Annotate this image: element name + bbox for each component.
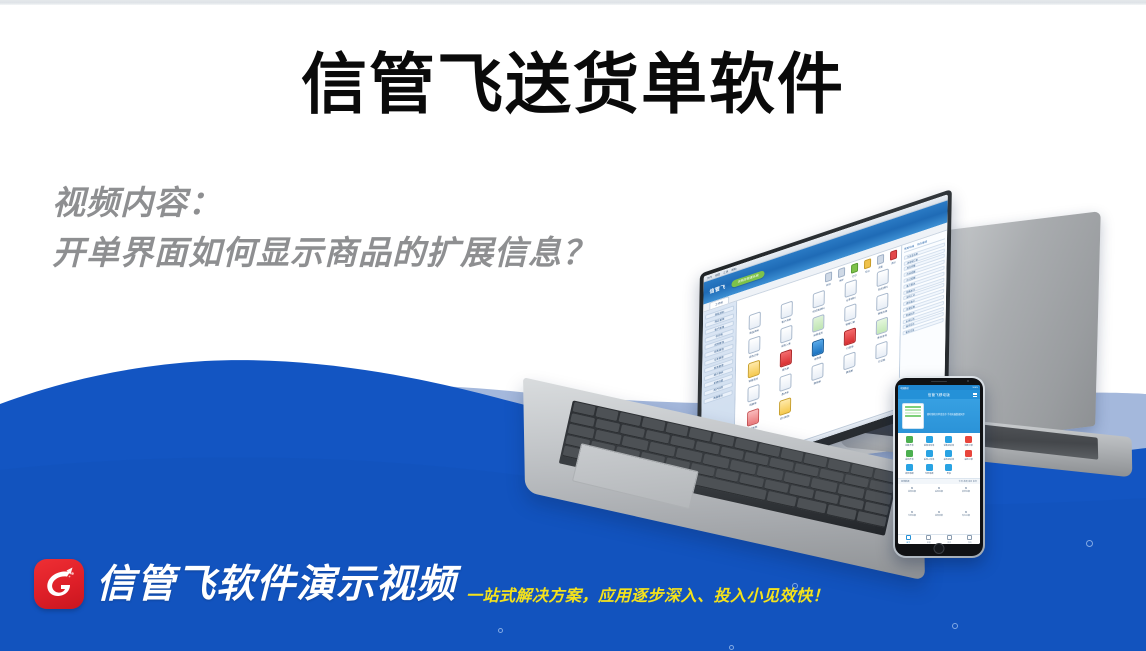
right-panel-tab[interactable]: 待办事项 (917, 239, 927, 246)
app-grid-icon-18 (844, 351, 856, 370)
toolbar-button-3[interactable]: 导出 (863, 258, 872, 275)
phone-stat-label-5: 库存总额 (962, 515, 970, 517)
device-illustration-icon (902, 403, 924, 429)
phone-stat-4: 0销售单数 (926, 511, 952, 532)
toolbar-icon-2 (851, 262, 858, 273)
phone-banner-text: 随时随地开单查库存 手机电脑数据同步 (927, 414, 965, 417)
phone-stat-value-3: 0 (899, 511, 925, 514)
phone-module-label-6: 采购退货单 (944, 459, 954, 461)
subtitle-line-2: 开单界面如何显示商品的扩展信息？ (52, 228, 596, 278)
phone-module-icon-8 (906, 464, 913, 471)
app-grid-icon-15 (747, 384, 759, 403)
app-grid-label-21: 应付账款 (780, 415, 790, 421)
toolbar-icon-4 (877, 254, 884, 265)
app-grid-icon-17 (811, 362, 823, 381)
app-grid-icon-21 (779, 397, 791, 416)
phone-module-icon-10 (945, 464, 952, 471)
app-grid-icon-2 (813, 290, 825, 309)
phone-module-label-0: 销售开单 (905, 445, 913, 447)
phone-stat-value-5: 0 (953, 511, 979, 514)
phone-module-label-8: 收款单据 (905, 473, 913, 475)
phone-nav-label-2: 报表 (947, 542, 951, 544)
device-photo-group: 文件 视图 工具 帮助 信管飞 进销存管理系统 工作台 (510, 226, 1146, 571)
phone-module-label-3: 销售订单 (964, 445, 972, 447)
app-grid-icon-6 (780, 325, 792, 344)
phone-filter-3[interactable]: 本年 (973, 481, 977, 483)
top-edge-strip (0, 0, 1146, 5)
app-grid-icon-19 (876, 340, 888, 359)
footer-brand-text: 信管飞软件演示视频 (96, 565, 456, 604)
toolbar-icon-1 (838, 267, 845, 278)
app-grid-icon-9 (877, 292, 889, 311)
app-grid-label-17: 报损单 (814, 380, 821, 385)
footer-tagline: 一站式解决方案，应用逐步深入、投入小见效快！ (466, 582, 829, 609)
phone-hero-banner: 随时随地开单查库存 手机电脑数据同步 (898, 399, 980, 433)
app-grid-label-16: 盘点单 (781, 391, 788, 396)
smartphone-speaker (931, 381, 947, 383)
toolbar-button-4[interactable]: 设置 (876, 253, 885, 270)
phone-module-5[interactable]: 采购入库单 (920, 450, 939, 461)
phone-module-label-4: 采购开单 (905, 459, 913, 461)
phone-stat-value-4: 0 (926, 511, 952, 514)
app-grid-icon-8 (844, 303, 856, 322)
phone-module-icon-7 (965, 450, 972, 457)
phone-filter-2[interactable]: 本月 (968, 481, 972, 483)
decorative-bubble (729, 645, 734, 650)
toolbar-button-1[interactable]: 保存 (837, 267, 846, 284)
phone-stats-grid: 0销售金额 0采购金额 0收款金额 0付款金额 0销售单数 0库存总额 (898, 484, 980, 534)
app-grid-label-8: 销售订单 (845, 321, 855, 327)
phone-nav-label-0: 首页 (906, 542, 910, 544)
phone-stat-0: 0销售金额 (899, 487, 925, 508)
phone-stat-5: 0库存总额 (953, 511, 979, 532)
toolbar-button-5[interactable]: 退出 (889, 249, 898, 266)
phone-stat-value-1: 0 (926, 487, 952, 490)
toolbar-icon-5 (890, 249, 897, 260)
phone-stat-label-0: 销售金额 (908, 491, 916, 493)
phone-nav-label-3: 我的 (968, 542, 972, 544)
decorative-bubble (1086, 540, 1093, 547)
smartphone-body: 中国移动 100% 信管飞移动版 随时随地开单查库存 手机电脑数据同步 销售开单… (895, 378, 983, 556)
phone-nav-home[interactable]: 首页 (898, 535, 919, 544)
smartphone-screen: 中国移动 100% 信管飞移动版 随时随地开单查库存 手机电脑数据同步 销售开单… (898, 385, 980, 544)
toolbar-button-2[interactable]: 打印 (850, 262, 859, 279)
hamburger-menu-icon[interactable] (973, 393, 977, 396)
phone-module-label-7: 采购订单 (964, 459, 972, 461)
app-grid-icon-7 (812, 314, 824, 333)
phone-module-10[interactable]: 更多 (940, 464, 959, 475)
phone-module-9[interactable]: 付款单据 (920, 464, 939, 475)
app-grid-icon-4 (877, 268, 889, 287)
app-grid-item-17[interactable]: 报损单 (803, 359, 833, 389)
phone-module-3[interactable]: 销售订单 (959, 436, 978, 447)
app-grid-item-18[interactable]: 费用单 (835, 348, 865, 378)
phone-module-icon-4 (906, 450, 913, 457)
phone-module-label-10: 更多 (947, 473, 951, 475)
phone-module-label-9: 付款单据 (925, 473, 933, 475)
phone-stat-value-2: 0 (953, 487, 979, 490)
phone-stat-2: 0收款金额 (953, 487, 979, 508)
smartphone-camera (967, 380, 969, 382)
phone-module-8[interactable]: 收款单据 (900, 464, 919, 475)
app-grid-icon-3 (845, 279, 857, 298)
phone-module-icon-3 (965, 436, 972, 443)
phone-module-icon-5 (926, 450, 933, 457)
phone-stat-1: 0采购金额 (926, 487, 952, 508)
toolbar-button-0[interactable]: 新增 (824, 271, 833, 288)
app-grid-label-11: 送货单 (782, 367, 789, 372)
phone-stat-3: 0付款金额 (899, 511, 925, 532)
phone-stat-label-1: 采购金额 (935, 491, 943, 493)
phone-module-4[interactable]: 采购开单 (900, 450, 919, 461)
app-grid-label-18: 费用单 (846, 369, 853, 374)
subtitle-line-1: 视频内容： (52, 178, 596, 228)
app-grid-icon-0 (748, 311, 760, 330)
phone-app-header: 信管飞移动版 (898, 390, 980, 399)
phone-module-icon-6 (945, 450, 952, 457)
app-grid-icon-16 (779, 373, 791, 392)
phone-module-label-2: 销售退货单 (944, 445, 954, 447)
app-grid-label-7: 采购退货 (813, 331, 823, 337)
app-grid-label-4: 职员资料 (878, 286, 888, 292)
toolbar-icon-3 (864, 258, 871, 269)
right-panel-title[interactable]: 常用功能 (904, 244, 914, 251)
app-grid-icon-5 (748, 336, 760, 355)
app-grid-label-13: 付款单 (846, 345, 853, 350)
app-grid-icon-13 (844, 327, 856, 346)
phone-stat-label-4: 销售单数 (935, 515, 943, 517)
app-grid-icon-10 (747, 360, 759, 379)
app-grid-item-19[interactable]: 日记账 (867, 338, 897, 368)
phone-module-6[interactable]: 采购退货单 (940, 450, 959, 461)
app-grid-icon-14 (876, 316, 888, 335)
app-grid-icon-11 (780, 349, 792, 368)
phone-nav-reports[interactable]: 报表 (939, 535, 960, 544)
app-grid-label-15: 调拨单 (749, 402, 756, 407)
phone-battery: 100% (972, 387, 978, 389)
phone-module-7[interactable]: 采购订单 (959, 450, 978, 461)
app-grid-item-21[interactable]: 应付账款 (770, 394, 800, 424)
phone-module-label-1: 销售出库单 (924, 445, 934, 447)
slide-headline: 信管飞送货单软件 (0, 52, 1146, 118)
user-icon (967, 535, 972, 540)
phone-nav-label-1: 单据 (927, 542, 931, 544)
phone-stat-label-3: 付款金额 (908, 515, 916, 517)
app-grid-label-5: 采购订单 (749, 353, 759, 359)
phone-section-filters: 今日 本周 本月 本年 (959, 480, 977, 483)
phone-module-2[interactable]: 销售退货单 (940, 436, 959, 447)
phone-section-title: 经营数据 (901, 480, 909, 483)
app-grid-label-14: 库存查询 (877, 334, 887, 340)
phone-module-icon-0 (906, 436, 913, 443)
app-grid-label-1: 客户资料 (782, 318, 792, 324)
phone-module-0[interactable]: 销售开单 (900, 436, 919, 447)
app-grid-label-19: 日记账 (878, 358, 885, 363)
toolbar-icon-0 (825, 271, 832, 282)
slide-subtitle: 视频内容： 开单界面如何显示商品的扩展信息？ (52, 178, 596, 278)
app-grid-icon-1 (780, 301, 792, 320)
chart-icon (947, 535, 952, 540)
decorative-bubble (498, 628, 503, 633)
phone-filter-1[interactable]: 本周 (963, 481, 967, 483)
phone-app-title: 信管飞移动版 (928, 392, 950, 397)
footer-banner: 信管飞软件演示视频 一站式解决方案，应用逐步深入、投入小见效快！ (34, 559, 829, 609)
phone-stat-label-2: 收款金额 (962, 491, 970, 493)
phone-module-label-5: 采购入库单 (924, 459, 934, 461)
document-icon (926, 535, 931, 540)
app-logo-text: 信管飞 (709, 283, 725, 295)
app-grid-icon-20 (747, 408, 759, 427)
phone-home-button[interactable] (934, 543, 945, 554)
app-grid-label-0: 商品资料 (749, 329, 759, 335)
app-grid-label-3: 仓库资料 (846, 296, 856, 302)
app-grid-icon-12 (812, 338, 824, 357)
app-grid-label-12: 收款单 (814, 356, 821, 361)
app-grid-label-9: 销售出库 (878, 310, 888, 316)
presentation-slide: 信管飞送货单软件 视频内容： 开单界面如何显示商品的扩展信息？ 文件 视图 工具 (0, 0, 1146, 651)
phone-module-icon-1 (926, 436, 933, 443)
phone-carrier: 中国移动 (900, 386, 909, 390)
app-grid-label-6: 采购入库 (781, 342, 791, 348)
bird-logo-icon (34, 559, 84, 609)
phone-stat-value-0: 0 (899, 487, 925, 490)
phone-module-grid: 销售开单 销售出库单 销售退货单 销售订单 采购开单 采购入库单 采购退货单 采… (898, 433, 980, 478)
decorative-bubble (952, 623, 958, 629)
phone-module-icon-9 (926, 464, 933, 471)
phone-module-1[interactable]: 销售出库单 (920, 436, 939, 447)
app-grid-label-10: 销售退货 (749, 377, 759, 383)
home-icon (906, 535, 911, 540)
smartphone-device: 中国移动 100% 信管飞移动版 随时随地开单查库存 手机电脑数据同步 销售开单… (893, 376, 985, 558)
phone-nav-profile[interactable]: 我的 (960, 535, 981, 544)
phone-module-icon-2 (945, 436, 952, 443)
